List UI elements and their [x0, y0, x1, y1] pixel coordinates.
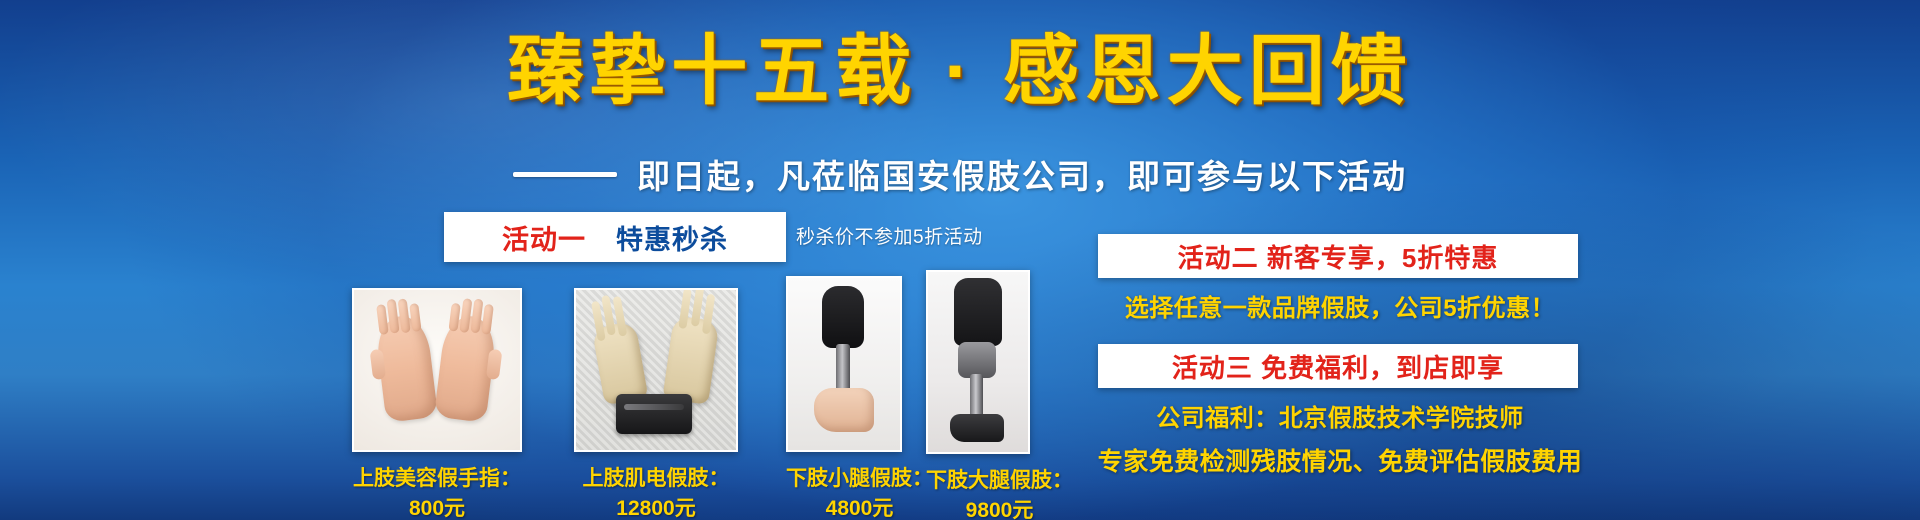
- myoelectric-hand-right: [662, 315, 719, 405]
- product-card-below-knee[interactable]: 下肢小腿假肢： 4800元: [786, 276, 933, 520]
- cosmetic-hand-left: [374, 313, 438, 423]
- below-knee-pylon: [836, 344, 850, 392]
- subline-text: 即日起，凡莅临国安假肢公司，即可参与以下活动: [637, 150, 1407, 198]
- below-knee-prosthesis-photo: [786, 276, 902, 452]
- below-knee-foot: [814, 388, 874, 432]
- activity-three-header: 活动三 免费福利，到店即享: [1098, 344, 1578, 388]
- banner-headline: 臻挚十五载 · 感恩大回馈: [0, 34, 1920, 110]
- product-name: 上肢美容假手指：: [352, 464, 522, 494]
- below-knee-socket: [822, 286, 864, 348]
- activity-one-tag: 活动一: [502, 218, 586, 257]
- product-price: 9800元: [926, 496, 1073, 520]
- product-caption: 上肢美容假手指： 800元: [352, 464, 522, 520]
- product-name: 下肢大腿假肢：: [926, 466, 1073, 496]
- above-knee-prosthesis-photo: [926, 270, 1030, 454]
- activity-three-line-two: 专家免费检测残肢情况、免费评估假肢费用: [1060, 442, 1620, 478]
- above-knee-socket: [954, 278, 1002, 346]
- product-name: 下肢小腿假肢：: [786, 464, 933, 494]
- above-knee-knee-joint: [958, 342, 996, 378]
- activity-three-title: 活动三 免费福利，到店即享: [1172, 348, 1504, 385]
- product-price: 800元: [352, 494, 522, 520]
- activity-three-line-one: 公司福利：北京假肢技术学院技师: [1094, 398, 1586, 433]
- myoelectric-hands-photo: [574, 288, 738, 452]
- myoelectric-wrist-unit: [616, 394, 692, 434]
- product-card-above-knee[interactable]: 下肢大腿假肢： 9800元: [926, 270, 1073, 520]
- promo-banner: 臻挚十五载 · 感恩大回馈 即日起，凡莅临国安假肢公司，即可参与以下活动 活动一…: [0, 0, 1920, 520]
- activity-one-note: 秒杀价不参加5折活动: [796, 222, 983, 249]
- product-name: 上肢肌电假肢：: [574, 464, 738, 494]
- activity-two-subtitle: 选择任意一款品牌假肢，公司5折优惠！: [1094, 288, 1586, 323]
- product-price: 4800元: [786, 494, 933, 520]
- above-knee-foot: [950, 414, 1004, 442]
- cosmetic-hands-photo: [352, 288, 522, 452]
- myoelectric-hand-left: [592, 321, 649, 405]
- product-card-myoelectric-arm[interactable]: 上肢肌电假肢： 12800元: [574, 288, 738, 520]
- product-caption: 上肢肌电假肢： 12800元: [574, 464, 738, 520]
- product-caption: 下肢大腿假肢： 9800元: [926, 466, 1073, 520]
- banner-subline: 即日起，凡莅临国安假肢公司，即可参与以下活动: [0, 150, 1920, 198]
- activity-one-title: 特惠秒杀: [616, 218, 728, 257]
- subline-rule: [513, 172, 617, 177]
- product-price: 12800元: [574, 494, 738, 520]
- activity-one-header: 活动一 特惠秒杀: [444, 212, 786, 262]
- product-caption: 下肢小腿假肢： 4800元: [786, 464, 933, 520]
- cosmetic-hand-right: [434, 313, 498, 423]
- activity-two-title: 活动二 新客专享，5折特惠: [1178, 238, 1499, 275]
- product-card-cosmetic-fingers[interactable]: 上肢美容假手指： 800元: [352, 288, 522, 520]
- activity-two-header: 活动二 新客专享，5折特惠: [1098, 234, 1578, 278]
